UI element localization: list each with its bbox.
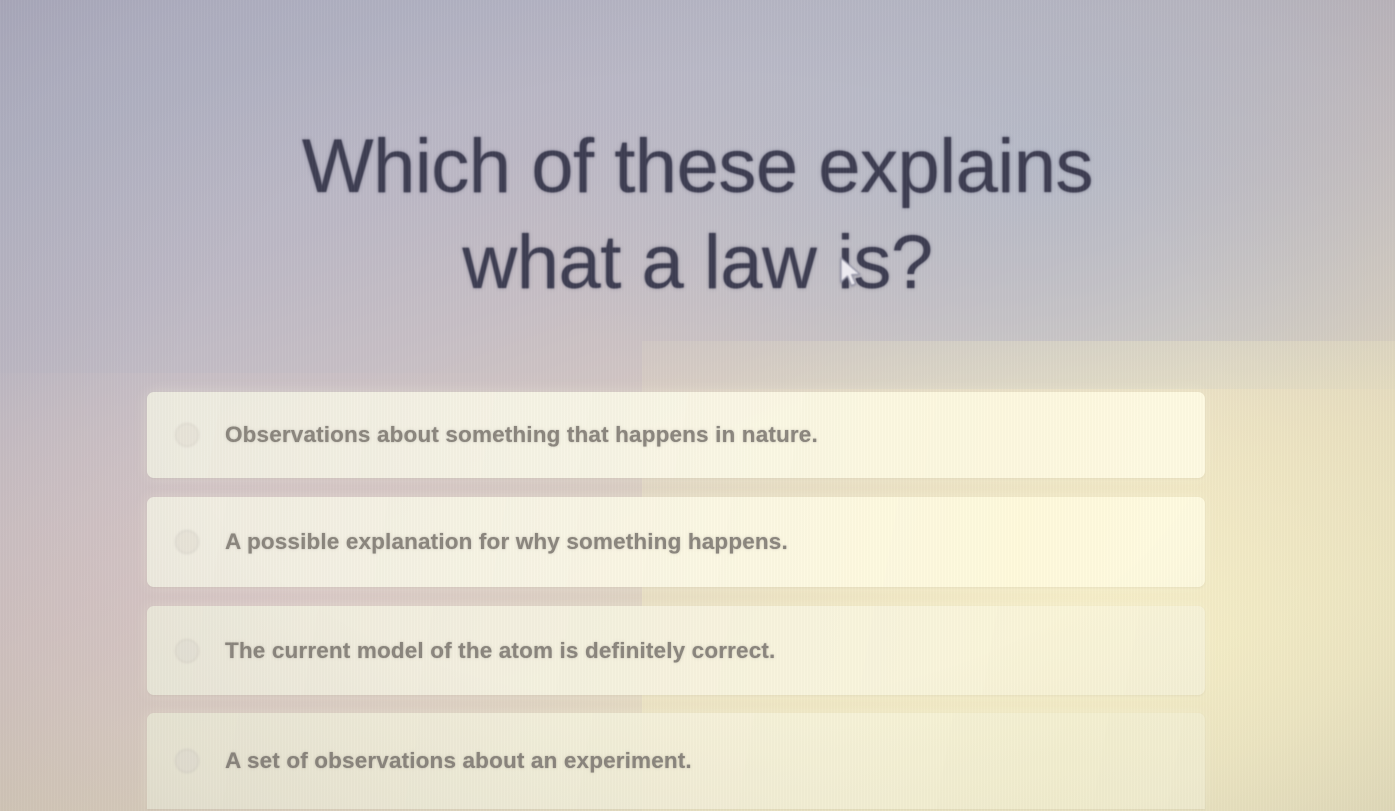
radio-button-icon[interactable] (175, 530, 199, 554)
answer-option-4[interactable]: A set of observations about an experimen… (147, 713, 1205, 809)
answer-option-1[interactable]: Observations about something that happen… (147, 392, 1205, 478)
question-title: Which of these explains what a law is? (0, 119, 1395, 311)
question-line-2: what a law is? (150, 215, 1245, 311)
answer-option-label: The current model of the atom is definit… (225, 638, 775, 664)
question-line-1: Which of these explains (150, 119, 1245, 215)
answer-option-3[interactable]: The current model of the atom is definit… (147, 606, 1205, 695)
answer-option-label: A set of observations about an experimen… (225, 748, 692, 774)
radio-button-icon[interactable] (175, 639, 199, 663)
answer-option-2[interactable]: A possible explanation for why something… (147, 497, 1205, 587)
radio-button-icon[interactable] (175, 423, 199, 447)
quiz-screen: Which of these explains what a law is? O… (0, 0, 1395, 811)
answer-option-label: A possible explanation for why something… (225, 529, 788, 555)
answer-options-list: Observations about something that happen… (147, 392, 1205, 809)
answer-option-label: Observations about something that happen… (225, 422, 818, 448)
radio-button-icon[interactable] (175, 749, 199, 773)
